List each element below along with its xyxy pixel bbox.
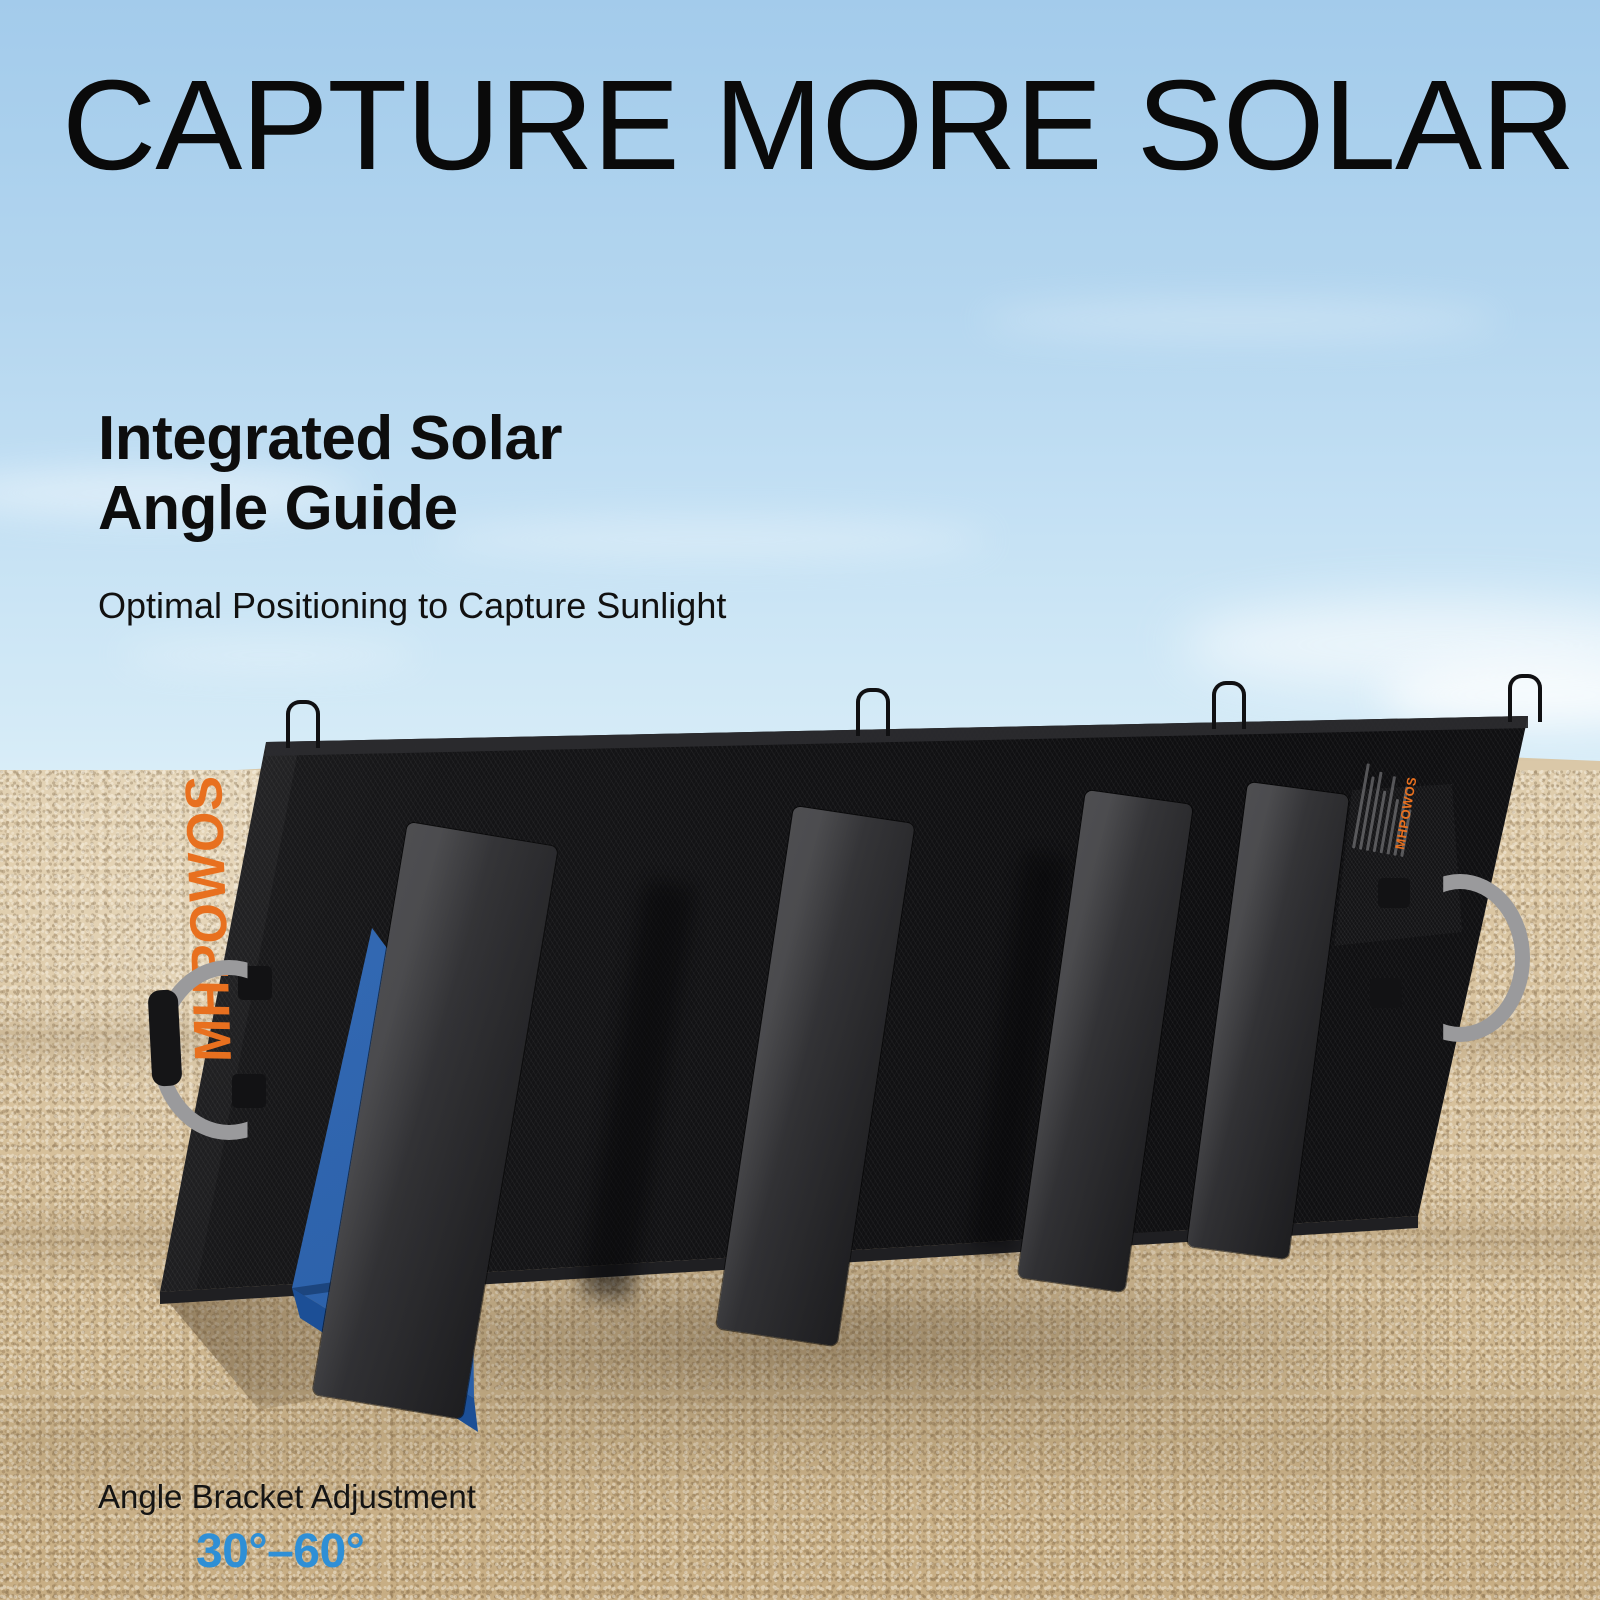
product-marketing-banner: MHPOWOS MHPOWOS — [0, 0, 1600, 1600]
hang-loop-icon — [856, 688, 890, 736]
hang-loop-icon — [1508, 674, 1542, 722]
subhead-line-2: Angle Guide — [98, 474, 562, 544]
hang-loop-icon — [286, 700, 320, 748]
subhead-block: Integrated Solar Angle Guide — [98, 404, 562, 544]
subhead-line-1: Integrated Solar — [98, 404, 562, 474]
tagline: Optimal Positioning to Capture Sunlight — [98, 585, 726, 627]
page-headline: CAPTURE MORE SOLAR — [62, 62, 1592, 190]
strap-anchor-tab — [1370, 978, 1402, 1008]
angle-caption-value: 30°–60° — [196, 1524, 364, 1579]
solar-panel-product: MHPOWOS MHPOWOS — [0, 0, 1600, 1600]
strap-anchor-tab — [1378, 878, 1410, 908]
hang-loop-icon — [1212, 681, 1246, 729]
angle-caption-label: Angle Bracket Adjustment — [98, 1478, 476, 1516]
strap-grip-pad — [148, 989, 183, 1086]
